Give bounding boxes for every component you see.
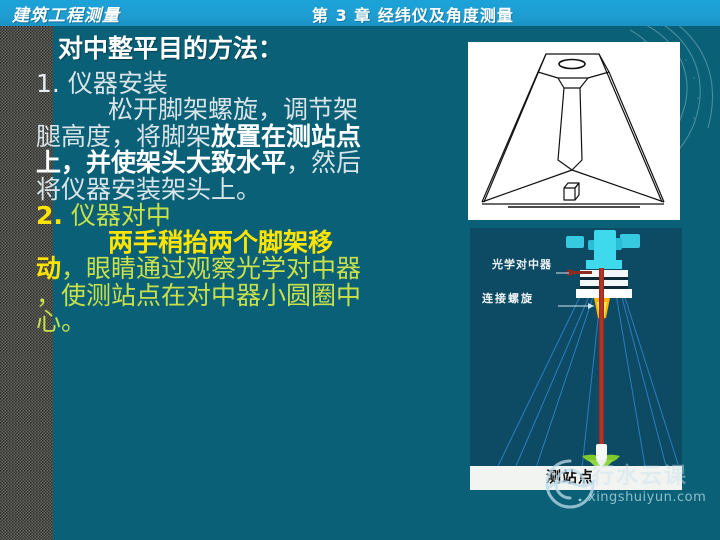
section2-heading-row: 2. 仪器对中	[36, 203, 466, 229]
section2-line2-bold: 动	[36, 254, 61, 283]
section1-number: 1.	[36, 69, 60, 98]
section1-line2: 腿高度，将脚架放置在测站点	[36, 124, 466, 150]
section1-line4-text: 将仪器安装架头上。	[36, 175, 261, 204]
section1-line1: 松开脚架螺旋，调节架	[36, 97, 466, 123]
section2-line1: 两手稍抬两个脚架移	[36, 230, 466, 256]
slide-canvas: 建筑工程测量 第 3 章 经纬仪及角度测量 对中整平目的方法： 1. 仪器安装 …	[0, 0, 720, 540]
page-title: 对中整平目的方法：	[36, 36, 466, 62]
optical-plummet-photo: 光学对中器 连接螺旋 测站点	[470, 228, 682, 490]
section1-line2-plain: 腿高度，将脚架	[36, 122, 211, 151]
section2-line3-text: ，使测站点在对中器小圆圈中	[36, 281, 361, 310]
slide-header-bar: 建筑工程测量 第 3 章 经纬仪及角度测量	[0, 0, 720, 26]
section2-line4-text: 心。	[36, 307, 86, 336]
section1-line2-bold: 放置在测站点	[211, 122, 361, 151]
section1-line1-text: 松开脚架螺旋，调节架	[108, 95, 358, 124]
section2-heading: 仪器对中	[71, 201, 171, 230]
label-connecting-screw: 连接螺旋	[482, 290, 534, 306]
section2-line4: 心。	[36, 309, 466, 335]
section2-line1-bold: 两手稍抬两个脚架移	[108, 228, 333, 257]
section1-heading: 仪器安装	[68, 69, 168, 98]
label-station-point: 测站点	[546, 466, 594, 487]
tripod-line-drawing-icon	[468, 42, 680, 220]
section1-line3: 上，并使架头大致水平，然后	[36, 150, 466, 176]
label-optical-plummet: 光学对中器	[492, 256, 552, 272]
section1-line3-bold: 上，并使架头大致水平	[36, 148, 286, 177]
section1-line3-plain: ，然后	[286, 148, 361, 177]
course-title: 建筑工程测量	[12, 1, 120, 26]
chapter-title: 第 3 章 经纬仪及角度测量	[312, 2, 514, 26]
section1-line4: 将仪器安装架头上。	[36, 177, 466, 203]
section2-line2-plain: ，眼睛通过观察光学对中器	[61, 254, 361, 283]
watermark-url: xingshuiyun.com	[588, 490, 706, 505]
section1-heading-row: 1. 仪器安装	[36, 71, 466, 97]
section2-number: 2.	[36, 201, 63, 230]
section2-line3: ，使测站点在对中器小圆圈中	[36, 283, 466, 309]
section2-line2: 动，眼睛通过观察光学对中器	[36, 256, 466, 282]
tripod-photo	[468, 42, 680, 220]
station-caption-bar: 测站点	[470, 466, 682, 490]
slide-text-column: 对中整平目的方法： 1. 仪器安装 松开脚架螺旋，调节架 腿高度，将脚架放置在测…	[36, 36, 466, 335]
